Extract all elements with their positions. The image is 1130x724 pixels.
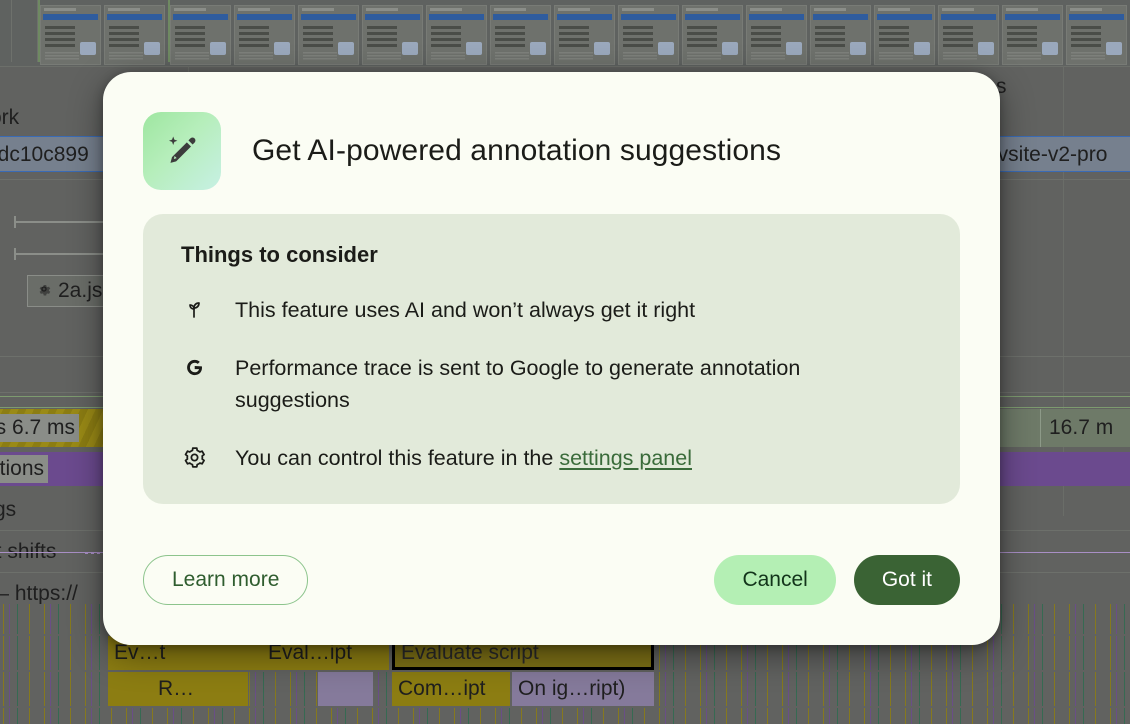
- consider-item: This feature uses AI and won’t always ge…: [181, 294, 922, 326]
- consider-item-text-before: You can control this feature in the: [235, 446, 559, 470]
- gear-icon: [181, 444, 207, 470]
- dialog-actions: Learn more Cancel Got it: [143, 527, 960, 605]
- dialog-header: Get AI-powered annotation suggestions: [143, 112, 960, 190]
- consider-item: Performance trace is sent to Google to g…: [181, 352, 922, 416]
- consider-item-text: This feature uses AI and won’t always ge…: [235, 294, 695, 326]
- consider-item-text: You can control this feature in the sett…: [235, 442, 692, 474]
- learn-more-button[interactable]: Learn more: [143, 555, 308, 605]
- settings-panel-link[interactable]: settings panel: [559, 446, 692, 470]
- got-it-button[interactable]: Got it: [854, 555, 960, 605]
- things-to-consider-heading: Things to consider: [181, 242, 922, 268]
- consider-item-text: Performance trace is sent to Google to g…: [235, 352, 875, 416]
- sprout-icon: [181, 296, 207, 322]
- things-to-consider-card: Things to consider This feature uses AI …: [143, 214, 960, 504]
- dialog-title: Get AI-powered annotation suggestions: [252, 134, 781, 168]
- cancel-button[interactable]: Cancel: [714, 555, 835, 605]
- sparkle-pencil-icon: [143, 112, 221, 190]
- consider-item: You can control this feature in the sett…: [181, 442, 922, 474]
- ai-annotation-consent-dialog: Get AI-powered annotation suggestions Th…: [103, 72, 1000, 645]
- google-g-icon: [181, 354, 207, 380]
